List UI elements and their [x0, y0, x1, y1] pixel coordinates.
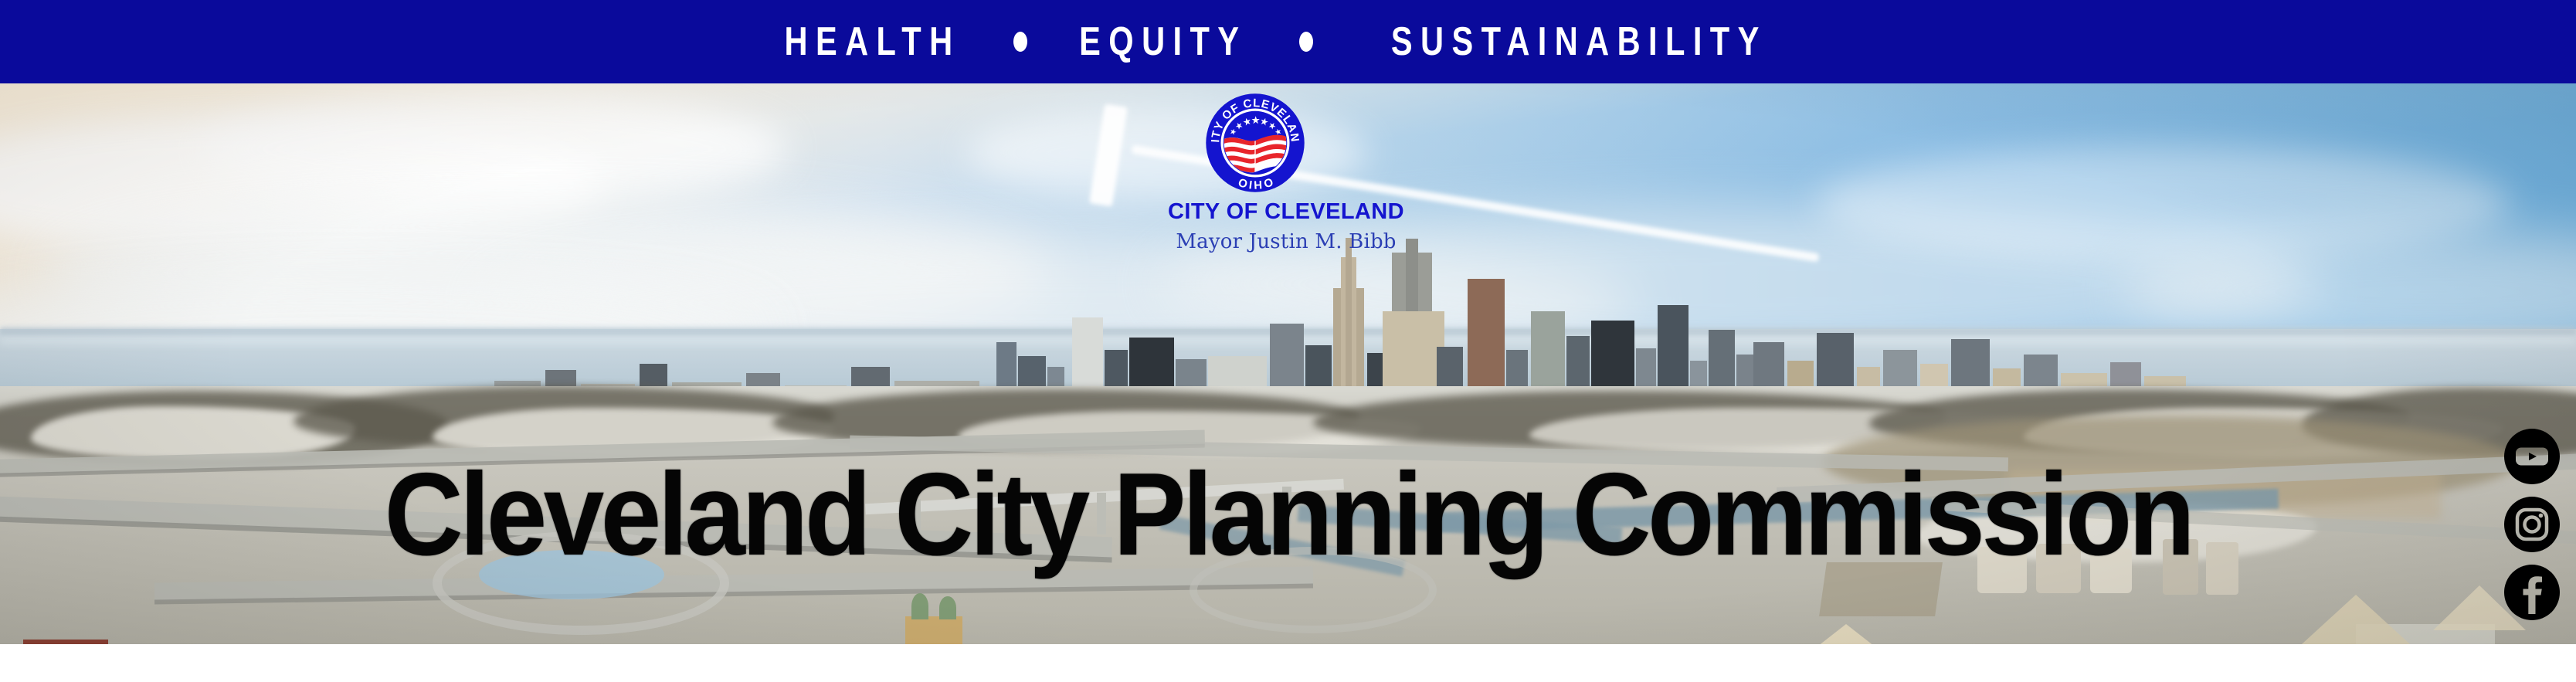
page-title: Cleveland City Planning Commission: [90, 456, 2486, 573]
instagram-icon[interactable]: [2504, 497, 2560, 552]
city-identity-block: CITY OF CLEVELAND OHIO: [1101, 93, 1471, 332]
hero-banner: CITY OF CLEVELAND OHIO: [0, 83, 2576, 644]
facebook-icon[interactable]: [2504, 565, 2560, 620]
tagline-word-sustainability: SUSTAINABILITY: [1390, 22, 1768, 62]
org-name: CITY OF CLEVELAND: [1101, 201, 1471, 223]
tagline-text-group: HEALTH EQUITY SUSTAINABILITY: [761, 22, 1815, 62]
tagline-banner: HEALTH EQUITY SUSTAINABILITY: [0, 0, 2576, 83]
youtube-icon[interactable]: [2504, 429, 2560, 484]
tagline-bullet-dot-1: [1013, 32, 1027, 52]
page-root: HEALTH EQUITY SUSTAINABILITY: [0, 0, 2576, 682]
city-of-cleveland-seal: CITY OF CLEVELAND OHIO: [1205, 93, 1305, 193]
mayor-name: Mayor Justin M. Bibb: [1101, 232, 1471, 252]
social-media-rail: [2504, 429, 2560, 620]
tagline-bullet-dot-2: [1299, 32, 1313, 52]
tagline-word-equity: EQUITY: [1078, 22, 1247, 62]
tagline-word-health: HEALTH: [783, 22, 962, 62]
